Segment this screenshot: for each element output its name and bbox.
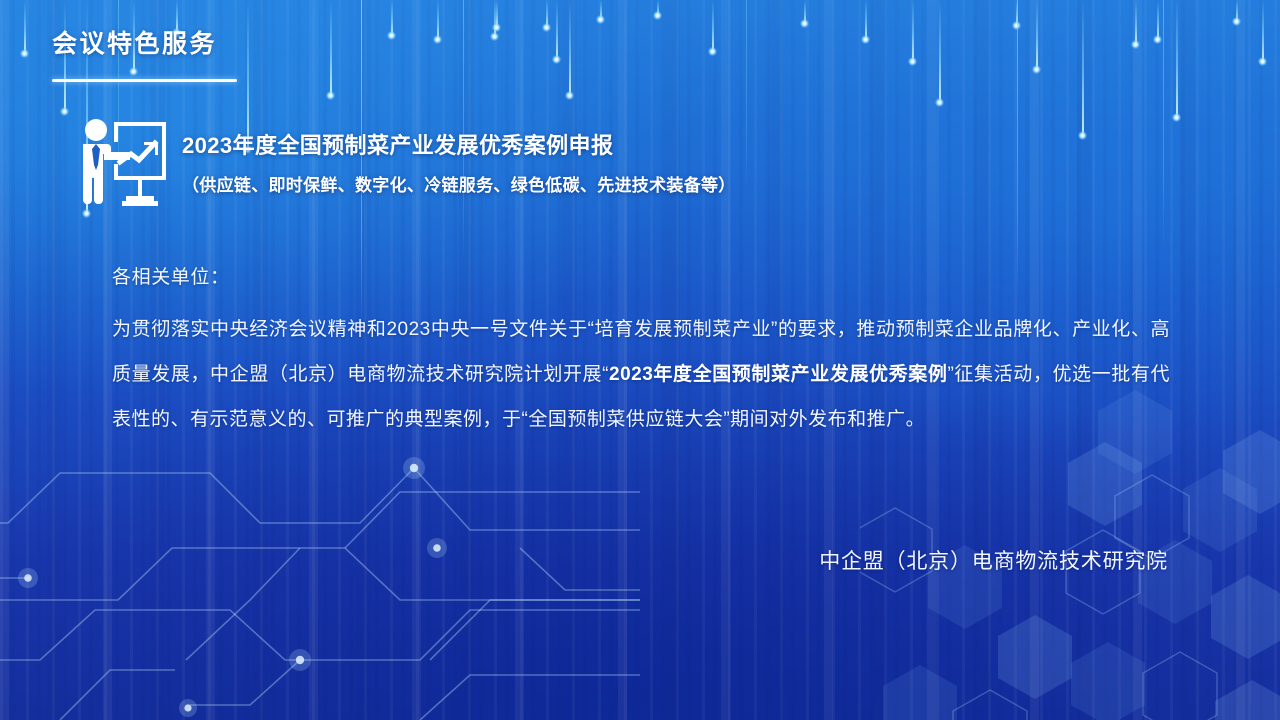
announcement-sub-title: （供应链、即时保鲜、数字化、冷链服务、绿色低碳、先进技术装备等） xyxy=(182,171,736,196)
title-texts: 2023年度全国预制菜产业发展优秀案例申报 （供应链、即时保鲜、数字化、冷链服务… xyxy=(182,128,736,197)
announcement-paragraph: 为贯彻落实中央经济会议精神和2023中央一号文件关于“培育发展预制菜产业”的要求… xyxy=(112,307,1170,442)
circuit-lines-decoration xyxy=(0,420,640,720)
section-header: 会议特色服务 xyxy=(52,24,237,82)
slide-root: 会议特色服务 xyxy=(0,0,1280,720)
announcement-main-title: 2023年度全国预制菜产业发展优秀案例申报 xyxy=(182,132,736,160)
body-content: 各相关单位： 为贯彻落实中央经济会议精神和2023中央一号文件关于“培育发展预制… xyxy=(112,264,1170,442)
header-underline-rule xyxy=(52,79,237,82)
signature-organization: 中企盟（北京）电商物流技术研究院 xyxy=(819,545,1168,575)
paragraph-highlight: 2023年度全国预制菜产业发展优秀案例 xyxy=(609,364,947,385)
salutation-text: 各相关单位： xyxy=(112,264,1170,293)
presenter-chart-board-icon xyxy=(76,112,168,212)
header-title: 会议特色服务 xyxy=(52,24,237,60)
title-block: 2023年度全国预制菜产业发展优秀案例申报 （供应链、即时保鲜、数字化、冷链服务… xyxy=(76,112,736,212)
